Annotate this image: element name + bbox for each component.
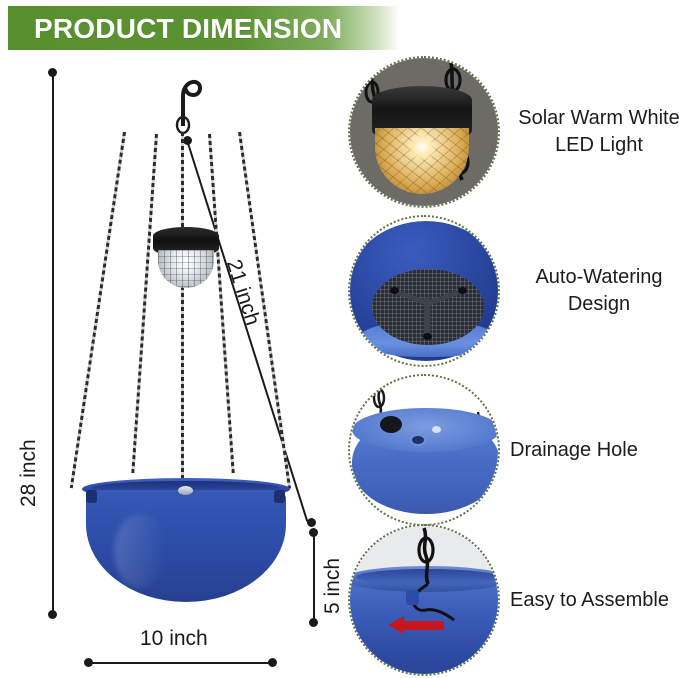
feature-drainage-hole: Drainage Hole — [348, 374, 679, 529]
page-title: PRODUCT DIMENSION — [34, 14, 342, 44]
drainage-hole — [410, 434, 426, 446]
solar-light-globe — [158, 250, 214, 288]
solar-light-assembly — [153, 227, 219, 287]
dimension-label-28-inch: 28 inch — [18, 439, 40, 507]
dimension-endpoint-dot — [309, 528, 318, 537]
mesh-hole — [458, 287, 467, 294]
pot-highlight — [114, 514, 166, 588]
feature-easy-to-assemble: Easy to Assemble — [348, 524, 679, 678]
dimension-endpoint-dot — [84, 658, 93, 667]
pot-body — [86, 490, 286, 602]
dimension-endpoint-dot — [48, 610, 57, 619]
feature-solar-led: Solar Warm White LED Light — [348, 56, 679, 211]
pot-chain-clip — [406, 590, 419, 605]
feature-image-auto-watering — [348, 215, 500, 367]
pot-center-ring — [178, 486, 193, 495]
pot-plug-knob — [380, 416, 402, 433]
feature-label-line1: Solar Warm White — [518, 107, 679, 129]
dimension-line-10-inch — [88, 662, 274, 664]
feature-image-solar-led — [348, 56, 500, 208]
dimension-drawing-panel: 28 inch 21 inch 5 inch 10 inch — [0, 52, 340, 678]
feature-image-easy-to-assemble — [348, 524, 500, 676]
feature-label-solar-led: Solar Warm White LED Light — [510, 56, 679, 208]
pot-underside-top — [352, 408, 500, 452]
globe-facet-texture — [158, 250, 214, 288]
chain-right — [238, 132, 291, 489]
auto-watering-mesh-insert — [372, 269, 484, 345]
product-illustration — [60, 52, 310, 652]
arrow-shaft — [402, 621, 444, 630]
led-glow — [407, 134, 437, 160]
chain-hook-icon — [350, 526, 500, 676]
dimension-endpoint-dot — [268, 658, 277, 667]
planter-pot — [82, 478, 290, 608]
pot-chain-clip — [274, 490, 285, 503]
red-pointer-arrow-icon — [388, 616, 444, 634]
chain-inner-right — [208, 134, 235, 473]
pot-chain-clip — [86, 490, 97, 503]
dimension-endpoint-dot — [309, 618, 318, 627]
solar-globe-lit — [375, 128, 469, 194]
feature-label-line2: LED Light — [555, 134, 643, 156]
feature-label-drainage-hole: Drainage Hole — [510, 374, 679, 526]
chain-left — [70, 132, 126, 488]
feature-label-line1: Auto-Watering — [535, 266, 662, 288]
pot-small-pin — [432, 426, 441, 433]
dimension-line-28-inch — [52, 72, 54, 617]
feature-label-line2: Design — [568, 293, 630, 315]
feature-label-easy-to-assemble: Easy to Assemble — [510, 524, 679, 676]
mesh-hole — [423, 333, 432, 340]
mesh-hole — [390, 287, 399, 294]
feature-auto-watering: Auto-Watering Design — [348, 215, 679, 370]
chain-inner-left — [131, 134, 158, 473]
chain-center — [181, 132, 184, 482]
feature-label-auto-watering: Auto-Watering Design — [510, 215, 679, 367]
product-dimension-infographic: PRODUCT DIMENSION 28 inch 21 inch 5 inch… — [0, 0, 679, 678]
feature-label-line1: Drainage Hole — [510, 437, 638, 464]
feature-image-drainage-hole — [348, 374, 500, 526]
header-banner: PRODUCT DIMENSION — [8, 6, 399, 50]
dimension-endpoint-dot — [48, 68, 57, 77]
feature-label-line1: Easy to Assemble — [510, 587, 669, 614]
dimension-line-5-inch — [313, 532, 315, 624]
feature-callouts-panel: Solar Warm White LED Light — [340, 52, 679, 678]
